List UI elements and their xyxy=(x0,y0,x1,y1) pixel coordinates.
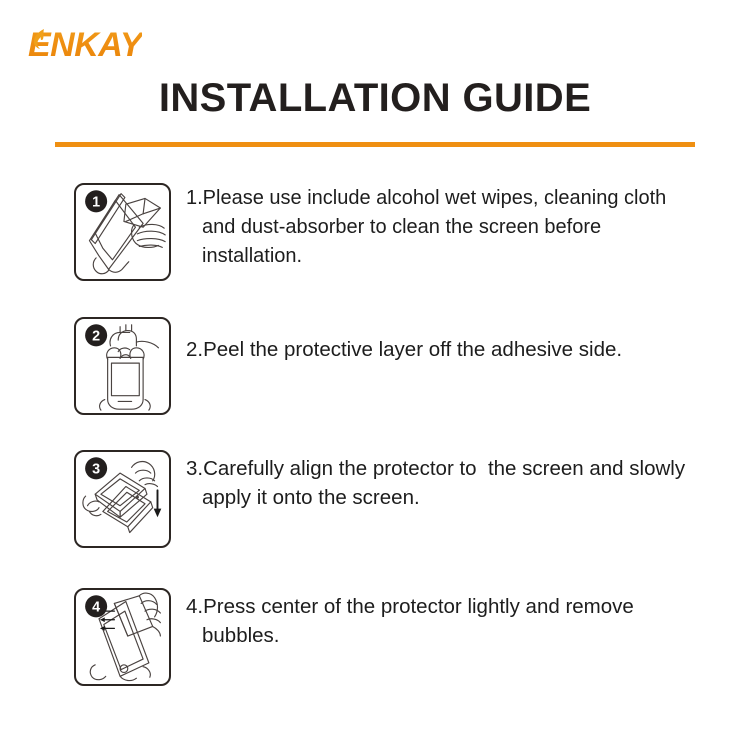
step-2-badge-label: 2 xyxy=(92,329,100,345)
step-1-badge-label: 1 xyxy=(92,195,100,211)
step-3-text: 3.Carefully align the protector to the s… xyxy=(186,454,722,512)
step-4-figure: 4 xyxy=(74,588,171,686)
step-4-text: 4.Press center of the protector lightly … xyxy=(186,592,702,650)
step-2-text: 2.Peel the protective layer off the adhe… xyxy=(186,335,718,364)
hand-pressing-protector-squeegee-icon: 4 xyxy=(76,590,169,684)
steps-list: 1 1.Please use include alcohol wet wipes… xyxy=(0,0,750,750)
step-3-illustration: 3 xyxy=(76,452,169,546)
step-3-badge-label: 3 xyxy=(92,462,100,478)
step-1-figure: 1 xyxy=(74,183,171,281)
step-4-badge-label: 4 xyxy=(92,600,100,616)
hand-peeling-protective-layer-icon: 2 xyxy=(76,319,169,413)
hands-aligning-protector-with-down-arrow-icon: 3 xyxy=(74,450,171,548)
hand-wiping-phone-with-cloth-icon: 1 xyxy=(76,185,169,279)
step-1-text: 1.Please use include alcohol wet wipes, … xyxy=(186,184,674,271)
step-2-figure: 2 xyxy=(74,317,171,415)
